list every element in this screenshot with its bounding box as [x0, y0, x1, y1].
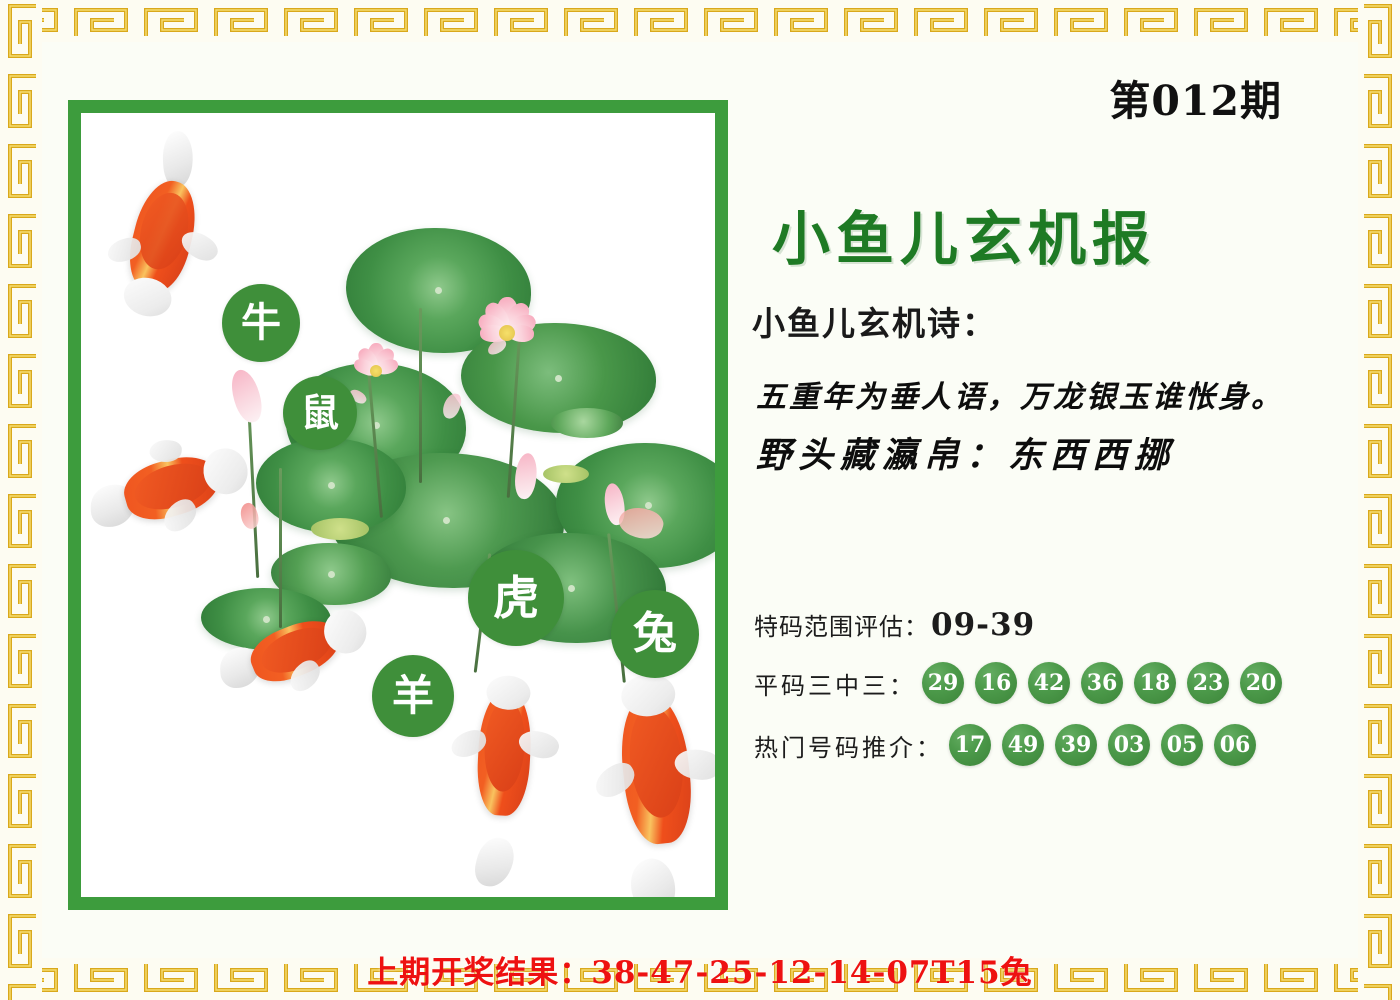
lily-pad-icon: [551, 408, 623, 438]
lottery-poster: 牛 鼠 虎 兔 羊 第012期 小鱼儿玄机报 小鱼儿玄机诗： 五重年为垂人语，万…: [0, 0, 1400, 1000]
zodiac-bubble-tu[interactable]: 兔: [611, 590, 699, 678]
number-ball[interactable]: 36: [1081, 662, 1123, 704]
page-title: 小鱼儿玄机报: [772, 192, 1156, 276]
issue-number: 第012期: [1109, 67, 1282, 127]
zodiac-label: 牛: [241, 303, 281, 343]
lily-pad-icon: [543, 465, 589, 483]
ball-group: 29 16 42 36 18 23 20: [922, 662, 1282, 704]
border-pattern-top: [0, 0, 1400, 42]
ball-group: 17 49 39 03 05 06: [949, 724, 1256, 766]
lotus-stem: [419, 308, 422, 483]
special-range-value: 09-39: [931, 607, 1035, 643]
content-panel: 第012期 小鱼儿玄机报 小鱼儿玄机诗： 五重年为垂人语，万龙银玉谁怅身。 野头…: [742, 42, 1342, 958]
number-ball[interactable]: 18: [1134, 662, 1176, 704]
previous-result-text: 上期开奖结果：38-47-25-12-14-07T15兔: [0, 947, 1400, 992]
zodiac-label: 羊: [392, 675, 434, 717]
koi-fish-icon: [568, 651, 715, 897]
number-ball[interactable]: 17: [949, 724, 991, 766]
poem-line-2: 野头藏瀛帛：东西西挪: [756, 427, 1176, 478]
number-ball[interactable]: 16: [975, 662, 1017, 704]
number-row-hot: 热门号码推介： 17 49 39 03 05 06: [754, 724, 1256, 766]
number-ball[interactable]: 05: [1161, 724, 1203, 766]
number-ball[interactable]: 42: [1028, 662, 1070, 704]
koi-fish-icon: [445, 665, 576, 891]
number-ball[interactable]: 03: [1108, 724, 1150, 766]
border-pattern-right: [1358, 0, 1400, 1000]
number-row-label: 热门号码推介：: [754, 728, 943, 763]
number-ball[interactable]: 29: [922, 662, 964, 704]
number-row-label: 平码三中三：: [754, 666, 916, 701]
artwork-frame: [68, 100, 728, 910]
number-ball[interactable]: 23: [1187, 662, 1229, 704]
number-row-ping-ma: 平码三中三： 29 16 42 36 18 23 20: [754, 662, 1282, 704]
number-ball[interactable]: 06: [1214, 724, 1256, 766]
special-range: 特码范围评估： 09-39: [754, 607, 1035, 643]
zodiac-label: 虎: [493, 575, 539, 621]
lily-pad-icon: [311, 518, 369, 540]
special-range-label: 特码范围评估：: [754, 607, 929, 642]
zodiac-label: 鼠: [301, 394, 339, 432]
number-ball[interactable]: 39: [1055, 724, 1097, 766]
border-pattern-left: [0, 0, 42, 1000]
zodiac-bubble-hu[interactable]: 虎: [468, 550, 564, 646]
zodiac-bubble-shu[interactable]: 鼠: [283, 376, 357, 450]
poem-line-1: 五重年为垂人语，万龙银玉谁怅身。: [756, 372, 1284, 416]
lotus-koi-painting: [81, 113, 715, 897]
zodiac-bubble-yang[interactable]: 羊: [372, 655, 454, 737]
lotus-flower-icon: [461, 298, 553, 368]
poem-label: 小鱼儿玄机诗：: [752, 297, 997, 345]
zodiac-label: 兔: [633, 612, 677, 656]
zodiac-bubble-niu[interactable]: 牛: [222, 284, 300, 362]
number-ball[interactable]: 49: [1002, 724, 1044, 766]
number-ball[interactable]: 20: [1240, 662, 1282, 704]
